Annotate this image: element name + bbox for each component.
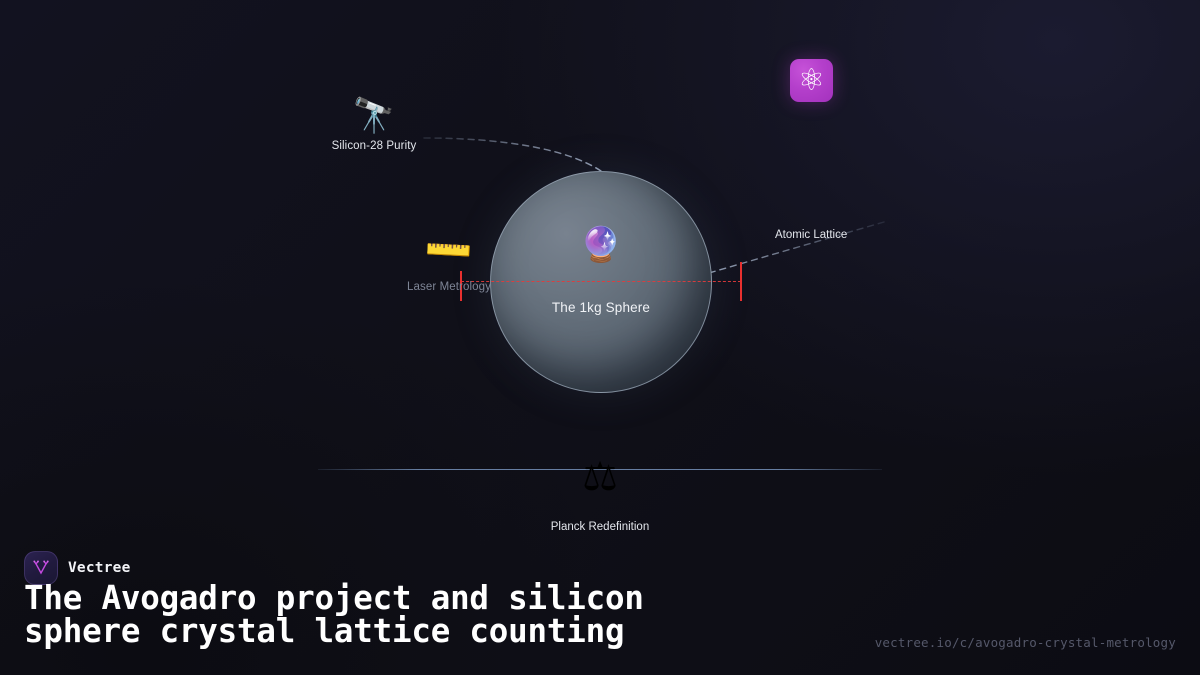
balance-scale-icon: ⚖ [515, 455, 685, 499]
page-title: The Avogadro project and silicon sphere … [24, 582, 844, 648]
node-planck-redefinition[interactable]: ⚖ Planck Redefinition [515, 455, 685, 533]
node-atomic-lattice-badge[interactable]: ⚛ [790, 59, 833, 102]
measurement-tick-right [740, 262, 742, 301]
node-silicon-28-purity[interactable]: 🔭 Silicon-28 Purity [289, 96, 459, 152]
telescope-icon: 🔭 [289, 96, 459, 136]
node-label-atomic-lattice: Atomic Lattice [775, 229, 847, 241]
atom-icon: ⚛ [798, 66, 825, 96]
node-label-planck-redefinition: Planck Redefinition [515, 521, 685, 533]
node-label-laser-metrology: Laser Metrology [364, 281, 534, 293]
node-laser-metrology[interactable]: 📏 Laser Metrology [364, 231, 534, 293]
central-sphere-label: The 1kg Sphere [491, 300, 711, 315]
screenshot-canvas: 🔮 The 1kg Sphere 🔭 Silicon-28 Purity 📏 L… [0, 0, 1200, 675]
node-label-silicon-28-purity: Silicon-28 Purity [289, 140, 459, 152]
ruler-icon: 📏 [420, 222, 478, 280]
source-url: vectree.io/c/avogadro-crystal-metrology [875, 635, 1176, 650]
footer-bar: Vectree The Avogadro project and silicon… [0, 540, 1200, 675]
brand-name: Vectree [68, 560, 131, 576]
